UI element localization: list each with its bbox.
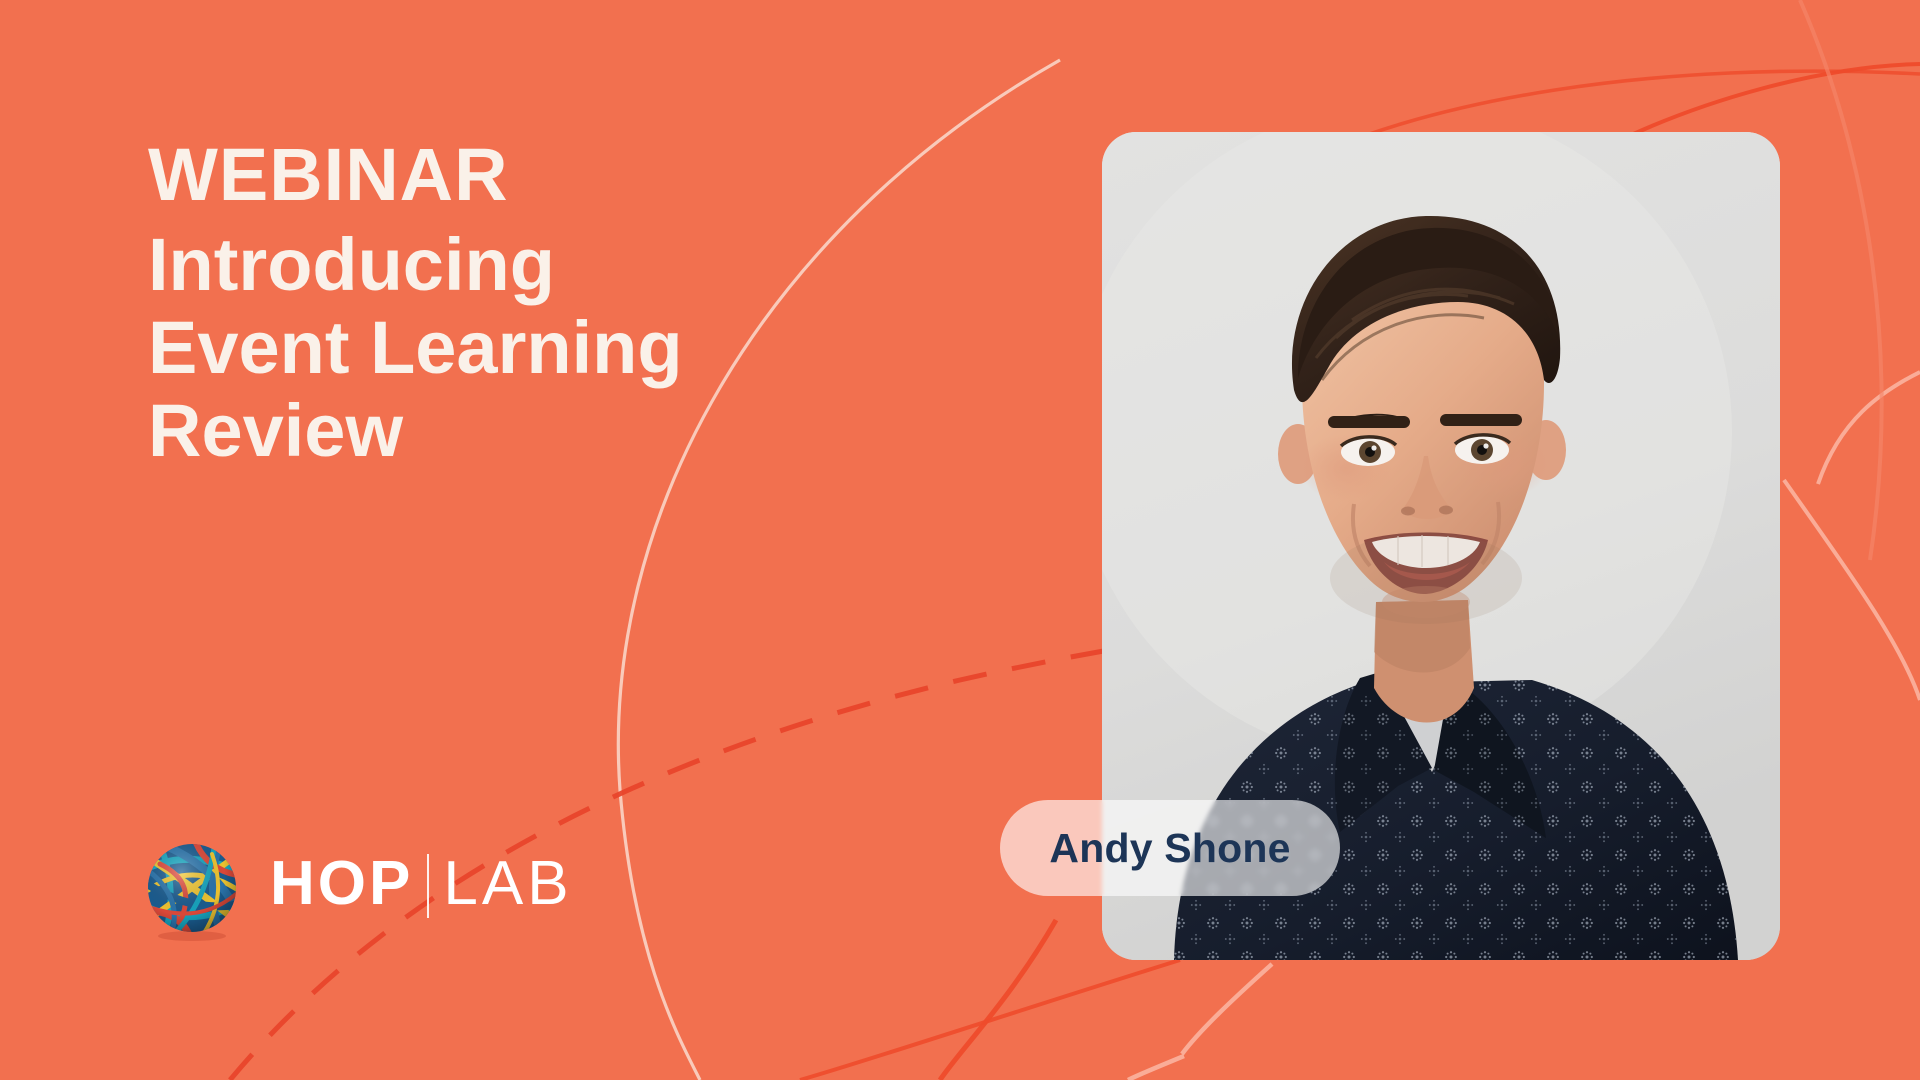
red-arc-bottom-shallow bbox=[800, 960, 1180, 1080]
red-arc-bottom-steep bbox=[940, 920, 1056, 1080]
logo-word-hop: HOP bbox=[270, 853, 413, 915]
rubber-band-ball-logo-icon bbox=[140, 838, 244, 942]
headline-line-2: Event Learning bbox=[148, 307, 928, 390]
light-arc-bottom-2 bbox=[1128, 1056, 1184, 1080]
logo-divider bbox=[427, 854, 429, 918]
headline-line-1: Introducing bbox=[148, 224, 928, 307]
logo-wordmark: HOP LAB bbox=[270, 853, 573, 927]
light-arc-right-lower bbox=[1784, 480, 1920, 700]
speaker-name-badge: Andy Shone bbox=[1000, 800, 1340, 896]
eyebrow-label: WEBINAR bbox=[148, 138, 928, 212]
logo-lockup[interactable]: HOP LAB bbox=[140, 838, 573, 942]
light-arc-right-upper bbox=[1818, 372, 1920, 484]
headline-line-3: Review bbox=[148, 390, 928, 473]
logo-word-lab: LAB bbox=[443, 853, 572, 915]
headline-lines: Introducing Event Learning Review bbox=[148, 224, 928, 473]
webinar-promo-banner: WEBINAR Introducing Event Learning Revie… bbox=[0, 0, 1920, 1080]
faint-circle-right bbox=[1800, 0, 1882, 560]
headline-block: WEBINAR Introducing Event Learning Revie… bbox=[148, 138, 928, 473]
light-arc-bottom-1 bbox=[1182, 964, 1272, 1054]
speaker-name-label: Andy Shone bbox=[1049, 825, 1290, 872]
